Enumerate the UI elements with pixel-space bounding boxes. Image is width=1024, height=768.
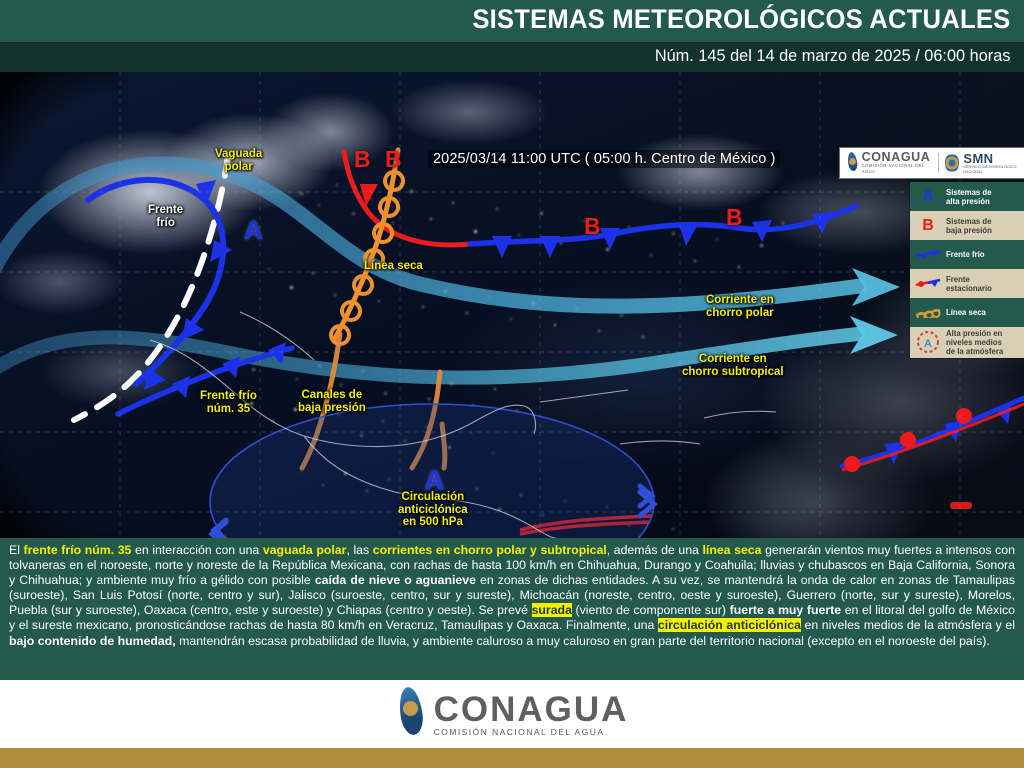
legend-row-3: Frente estacionario — [910, 269, 1024, 298]
smn-logo-name: SMN — [963, 152, 1018, 165]
discussion-segment-5: corrientes en chorro polar y subtropical — [373, 543, 607, 557]
smn-emblem-icon — [945, 153, 960, 173]
discussion-segment-4: , las — [346, 543, 372, 557]
conagua-logo-subtitle: COMISIÓN NACIONAL DEL AGUA — [862, 163, 932, 175]
legend-label-3: Frente estacionario — [943, 275, 1021, 293]
discussion-segment-16: en niveles medios de la atmósfera y el — [801, 618, 1015, 632]
conagua-logo: CONAGUA COMISIÓN NACIONAL DEL AGUA — [840, 151, 938, 175]
legend-symbol-stationary-front — [914, 277, 942, 289]
map-label-linea-seca: Línea seca — [364, 260, 423, 273]
discussion-segment-12: (viento de componente sur) — [572, 603, 730, 617]
discussion-segment-17: bajo contenido de humedad, — [9, 634, 176, 648]
footer-logo-name: CONAGUA — [434, 692, 629, 727]
legend-row-2: Frente frío — [910, 240, 1024, 269]
conagua-logo-name: CONAGUA — [862, 151, 932, 163]
map-label-corriente-chorro-subtropical: Corriente en chorro subtropical — [682, 353, 784, 378]
legend-symbol-cell-0: A — [913, 189, 943, 205]
weather-systems-overlay — [0, 72, 1024, 538]
map-label-canales-baja-presion: Canales de baja presión — [298, 389, 366, 414]
legend-label-2: Frente frío — [943, 250, 1021, 259]
map-label-frente-frio-35: Frente frío núm. 35 — [200, 390, 257, 415]
discussion-segment-1: frente frío núm. 35 — [24, 543, 132, 557]
legend-label-4: Línea seca — [943, 308, 1021, 317]
discussion-segment-9: caída de nieve o aguanieve — [315, 573, 476, 587]
legend-symbol-cell-2 — [913, 248, 943, 262]
legend-row-0: ASistemas de alta presión — [910, 182, 1024, 211]
footer-water-drop-icon — [396, 687, 426, 741]
legend-symbol-cell-3 — [913, 277, 943, 291]
page-header: SISTEMAS METEOROLÓGICOS ACTUALES — [0, 0, 1024, 42]
agency-logo-bar: CONAGUA COMISIÓN NACIONAL DEL AGUA SMN S… — [840, 148, 1024, 178]
page-footer: CONAGUA COMISIÓN NACIONAL DEL AGUA — [0, 680, 1024, 748]
forecast-discussion-text: El frente frío núm. 35 en interacción co… — [0, 538, 1024, 680]
map-legend: ASistemas de alta presiónBSistemas de ba… — [910, 182, 1024, 358]
svg-text:A: A — [924, 338, 932, 350]
legend-symbol-cell-1: B — [913, 218, 943, 234]
discussion-segment-0: El — [9, 543, 24, 557]
map-label-vaguada-polar: Vaguada polar — [215, 148, 262, 173]
map-label-frente-frio: Frente frío — [148, 204, 183, 229]
weather-map: 2025/03/14 11:00 UTC ( 05:00 h. Centro d… — [0, 72, 1024, 538]
low-pressure-marker-5: B — [726, 204, 743, 231]
stationary-front-atlantic — [842, 398, 1024, 538]
footer-gold-bar — [0, 748, 1024, 768]
map-label-corriente-chorro-polar: Corriente en chorro polar — [706, 294, 774, 319]
bulletin-number-date: Núm. 145 del 14 de marzo de 2025 / 06:00… — [654, 46, 1010, 66]
discussion-segment-13: fuerte a muy fuerte — [730, 603, 841, 617]
legend-symbol-cell-5: A — [913, 330, 943, 356]
discussion-segment-7: línea seca — [702, 543, 761, 557]
discussion-segment-2: en interacción con una — [131, 543, 263, 557]
legend-symbol-mid-level-high: A — [915, 330, 941, 354]
high-pressure-marker-1: A — [425, 465, 444, 496]
legend-row-4: Línea seca — [910, 298, 1024, 327]
smn-logo: SMN SERVICIO METEOROLÓGICO NACIONAL — [939, 152, 1024, 175]
high-pressure-marker-0: A — [244, 215, 263, 246]
legend-label-0: Sistemas de alta presión — [943, 188, 1021, 206]
legend-symbol-dry-line — [914, 306, 942, 318]
discussion-segment-3: vaguada polar — [263, 543, 347, 557]
discussion-segment-15: circulación anticiclónica — [658, 618, 801, 632]
page-title: SISTEMAS METEOROLÓGICOS ACTUALES — [472, 4, 1010, 35]
low-pressure-marker-3: B — [385, 146, 402, 173]
discussion-segment-18: mantendrán escasa probabilidad de lluvia… — [176, 634, 990, 648]
water-drop-icon — [846, 152, 858, 174]
discussion-segment-11: surada — [532, 603, 572, 617]
page-subheader: Núm. 145 del 14 de marzo de 2025 / 06:00… — [0, 42, 1024, 72]
legend-label-5: Alta presión en niveles medios de la atm… — [943, 329, 1021, 356]
legend-row-1: BSistemas de baja presión — [910, 211, 1024, 240]
low-pressure-marker-4: B — [584, 213, 601, 240]
legend-symbol-high-pressure: A — [922, 188, 934, 205]
map-timestamp: 2025/03/14 11:00 UTC ( 05:00 h. Centro d… — [428, 150, 780, 168]
map-label-circulacion-anticiclonica: Circulación anticiclónica en 500 hPa — [398, 491, 468, 529]
legend-row-5: AAlta presión en niveles medios de la at… — [910, 327, 1024, 358]
smn-logo-subtitle: SERVICIO METEOROLÓGICO NACIONAL — [963, 165, 1018, 175]
legend-symbol-low-pressure: B — [922, 217, 934, 234]
low-pressure-marker-2: B — [354, 146, 371, 173]
footer-logo-subtitle: COMISIÓN NACIONAL DEL AGUA — [434, 727, 629, 737]
discussion-segment-6: , además de una — [607, 543, 703, 557]
legend-label-1: Sistemas de baja presión — [943, 217, 1021, 235]
legend-symbol-cold-front — [914, 248, 942, 260]
legend-symbol-cell-4 — [913, 306, 943, 320]
